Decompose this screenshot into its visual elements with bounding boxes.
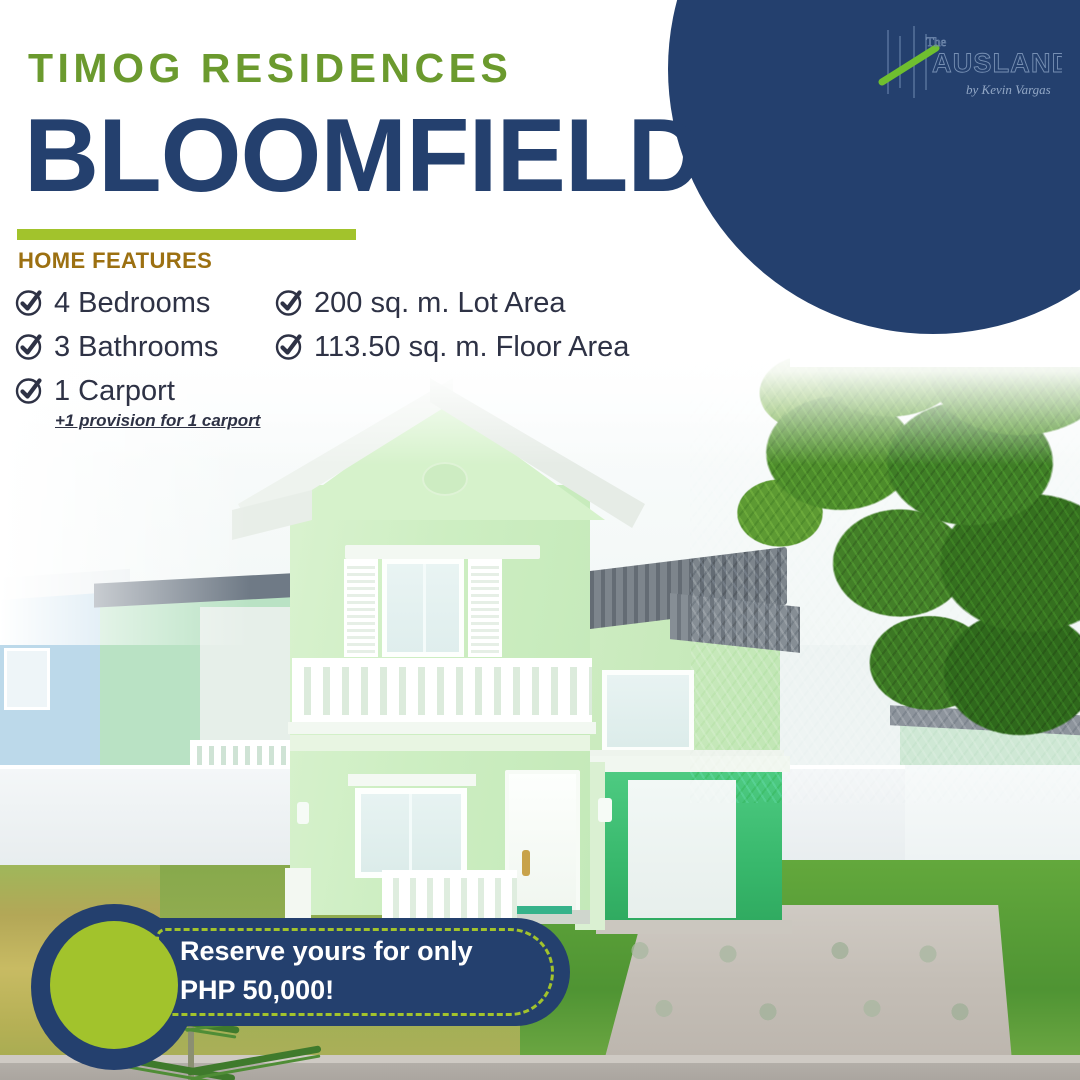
upper-window [382, 559, 464, 657]
accent-divider [17, 229, 356, 240]
cta-text: Reserve yours for only PHP 50,000! [180, 932, 540, 1010]
photo-corner-mask [790, 345, 1080, 367]
page-title: BLOOMFIELD [24, 104, 701, 208]
check-circle-icon [274, 331, 304, 365]
upper-window-header [345, 545, 540, 559]
logo-wordmark: AUSLANDS [932, 48, 1062, 78]
carport-floor [596, 920, 792, 934]
gable-vent [422, 462, 468, 496]
features-column-left: 4 Bedrooms 3 Bathrooms 1 Carport +1 prov… [14, 283, 260, 431]
feature-label: 200 sq. m. Lot Area [314, 283, 565, 323]
feature-label: 1 Carport [54, 371, 175, 411]
feature-label: 4 Bedrooms [54, 283, 210, 323]
feature-label: 3 Bathrooms [54, 327, 218, 367]
facade-band [290, 735, 590, 751]
feature-item: 4 Bedrooms [14, 283, 260, 323]
wall-lamp [598, 798, 612, 822]
project-name: TIMOG RESIDENCES [28, 48, 512, 89]
features-column-right: 200 sq. m. Lot Area 113.50 sq. m. Floor … [274, 283, 629, 371]
cta-line-2: PHP 50,000! [180, 971, 540, 1010]
feature-item: 200 sq. m. Lot Area [274, 283, 629, 323]
poster-canvas: The AUSLANDS by Kevin Vargas TIMOG RESID… [0, 0, 1080, 1080]
feature-item: 113.50 sq. m. Floor Area [274, 327, 629, 367]
feature-item: 1 Carport [14, 371, 260, 411]
shutter-right [468, 559, 502, 657]
balcony-balustrade [292, 658, 592, 724]
cta-line-1: Reserve yours for only [180, 932, 540, 971]
wall-lamp [297, 802, 309, 824]
logo-byline: by Kevin Vargas [966, 82, 1051, 97]
section-label: HOME FEATURES [18, 248, 212, 274]
check-circle-icon [14, 331, 44, 365]
shutter-left [344, 559, 378, 657]
door-handle [522, 850, 530, 876]
wing-window [602, 670, 694, 752]
check-circle-icon [14, 287, 44, 321]
check-circle-icon [14, 375, 44, 409]
check-circle-icon [274, 287, 304, 321]
lower-window-header [348, 774, 476, 786]
cta-circle-inner [50, 921, 178, 1049]
feature-item: 3 Bathrooms [14, 327, 260, 367]
door-mat [516, 906, 572, 914]
logo-the: The [926, 34, 946, 49]
hauslands-logo: The AUSLANDS by Kevin Vargas [870, 22, 1062, 118]
feature-note: +1 provision for 1 carport [55, 411, 260, 431]
feature-label: 113.50 sq. m. Floor Area [314, 327, 629, 367]
neighbor-window [4, 648, 50, 710]
lower-window [355, 788, 467, 878]
balcony-slab [288, 722, 596, 734]
